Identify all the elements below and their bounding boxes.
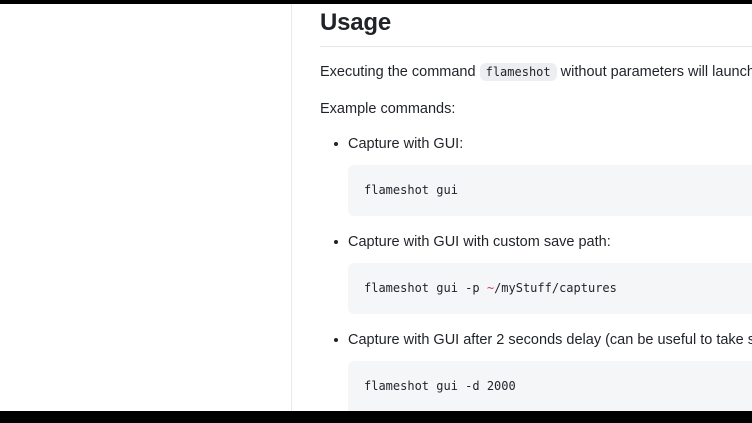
command-description: Capture with GUI with custom save path: xyxy=(320,232,752,253)
command-description-text: Capture with GUI after 2 seconds delay (… xyxy=(348,332,752,348)
code-text-prefix: flameshot gui -p xyxy=(364,281,487,295)
inline-code-flameshot: flameshot xyxy=(480,63,557,81)
command-description-text: Capture with GUI: xyxy=(348,136,463,152)
bullet-icon xyxy=(334,338,338,342)
list-item: Capture with GUI after 2 seconds delay (… xyxy=(320,330,752,411)
documentation-page: Usage Executing the command flameshot wi… xyxy=(0,4,752,411)
letterbox-top xyxy=(0,0,752,4)
code-block[interactable]: flameshot gui -d 2000 xyxy=(348,361,752,411)
bullet-icon xyxy=(334,240,338,244)
bullet-icon xyxy=(334,142,338,146)
intro-paragraph: Executing the command flameshot without … xyxy=(320,61,752,84)
left-empty-pane xyxy=(0,4,291,411)
list-item: Capture with GUI: flameshot gui xyxy=(320,134,752,216)
letterbox-bottom xyxy=(0,411,752,423)
list-item: Capture with GUI with custom save path: … xyxy=(320,232,752,314)
main-content: Usage Executing the command flameshot wi… xyxy=(292,4,752,411)
command-description: Capture with GUI: xyxy=(320,134,752,155)
code-text-tilde: ~ xyxy=(487,281,494,295)
examples-label: Example commands: xyxy=(320,98,752,121)
intro-text-after: without parameters will launch a running… xyxy=(561,64,752,80)
heading-rule xyxy=(320,46,752,47)
code-block[interactable]: flameshot gui -p ~/myStuff/captures xyxy=(348,263,752,314)
code-text-prefix: flameshot gui xyxy=(364,183,458,197)
command-list: Capture with GUI: flameshot gui Capture … xyxy=(320,134,752,411)
code-text-suffix: /myStuff/captures xyxy=(494,281,617,295)
code-text-prefix: flameshot gui -d 2000 xyxy=(364,379,516,393)
code-block[interactable]: flameshot gui xyxy=(348,165,752,216)
command-description: Capture with GUI after 2 seconds delay (… xyxy=(320,330,752,351)
intro-text-before: Executing the command xyxy=(320,64,476,80)
page-title: Usage xyxy=(320,4,752,46)
command-description-text: Capture with GUI with custom save path: xyxy=(348,234,611,250)
